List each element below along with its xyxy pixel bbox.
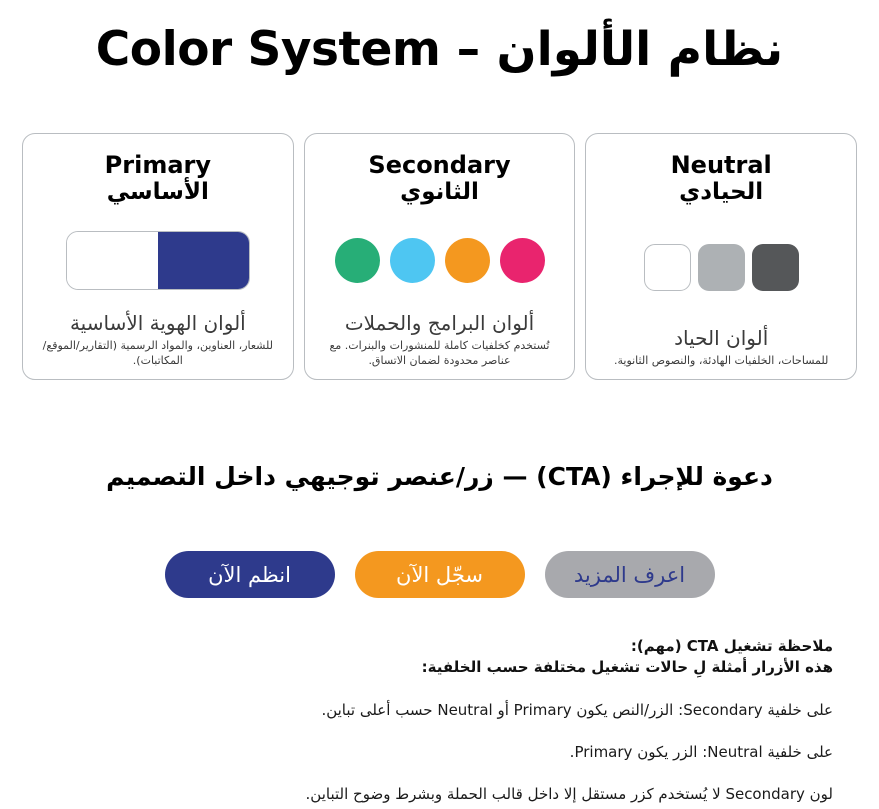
- card-caption-primary: ألوان الهوية الأساسية: [70, 311, 246, 336]
- note-heading-line-2: هذه الأزرار أمثلة لِ حالات تشغيل مختلفة …: [43, 657, 833, 678]
- card-subcaption-primary: للشعار، العناوين، والمواد الرسمية (التقا…: [33, 339, 283, 369]
- primary-pill-swatch: [66, 231, 250, 290]
- swatch-zone-neutral: [596, 209, 846, 326]
- color-card-primary[interactable]: Primary الأساسي ألوان الهوية الأساسية لل…: [22, 133, 294, 380]
- swatch-zone-primary: [33, 209, 283, 311]
- swatch-primary-navy: [158, 232, 249, 289]
- swatch-zone-secondary: [315, 209, 565, 311]
- note-rule-secondary-background: على خلفية Secondary: الزر/النص يكون Prim…: [43, 700, 833, 721]
- card-title-en-secondary: Secondary: [368, 151, 510, 179]
- card-caption-secondary: ألوان البرامج والحملات: [345, 311, 534, 336]
- cta-learn-more-button[interactable]: اعرف المزيد: [545, 551, 715, 598]
- card-title-ar-neutral: الحيادي: [679, 179, 763, 207]
- cta-register-now-button[interactable]: سجّل الآن: [355, 551, 525, 598]
- swatch-primary-white: [67, 232, 158, 289]
- note-rule-neutral-background: على خلفية Neutral: الزر يكون Primary.: [43, 742, 833, 763]
- cta-join-now-button[interactable]: انظم الآن: [165, 551, 335, 598]
- note-heading-line-1: ملاحظة تشغيل CTA (مهم):: [43, 636, 833, 657]
- cta-notes-block: ملاحظة تشغيل CTA (مهم): هذه الأزرار أمثل…: [43, 636, 833, 805]
- cta-button-group: انظم الآن سجّل الآن اعرف المزيد: [0, 551, 879, 598]
- card-subcaption-secondary: تُستخدم كخلفيات كاملة للمنشورات والبنرات…: [315, 339, 565, 369]
- card-title-en-primary: Primary: [105, 151, 211, 179]
- secondary-dots-swatch: [335, 238, 545, 283]
- swatch-secondary-orange: [445, 238, 490, 283]
- swatch-secondary-pink: [500, 238, 545, 283]
- note-rule-secondary-standalone: لون Secondary لا يُستخدم كزر مستقل إلا د…: [43, 784, 833, 805]
- page-title: نظام الألوان – Color System: [0, 22, 879, 78]
- cta-section-heading: دعوة للإجراء (CTA) — زر/عنصر توجيهي داخل…: [0, 462, 879, 491]
- swatch-secondary-skyblue: [390, 238, 435, 283]
- swatch-secondary-green: [335, 238, 380, 283]
- color-cards-row: Primary الأساسي ألوان الهوية الأساسية لل…: [22, 133, 857, 380]
- neutral-squares-swatch: [644, 244, 799, 291]
- card-subcaption-neutral: للمساحات، الخلفيات الهادئة، والنصوص الثا…: [610, 354, 832, 369]
- card-caption-neutral: ألوان الحياد: [674, 326, 768, 351]
- card-title-ar-secondary: الثانوي: [400, 179, 479, 207]
- swatch-neutral-darkgray: [752, 244, 799, 291]
- color-card-secondary[interactable]: Secondary الثانوي ألوان البرامج والحملات…: [304, 133, 576, 380]
- card-title-ar-primary: الأساسي: [107, 179, 209, 207]
- card-title-en-neutral: Neutral: [671, 151, 772, 179]
- color-card-neutral[interactable]: Neutral الحيادي ألوان الحياد للمساحات، ا…: [585, 133, 857, 380]
- swatch-neutral-white: [644, 244, 691, 291]
- swatch-neutral-gray: [698, 244, 745, 291]
